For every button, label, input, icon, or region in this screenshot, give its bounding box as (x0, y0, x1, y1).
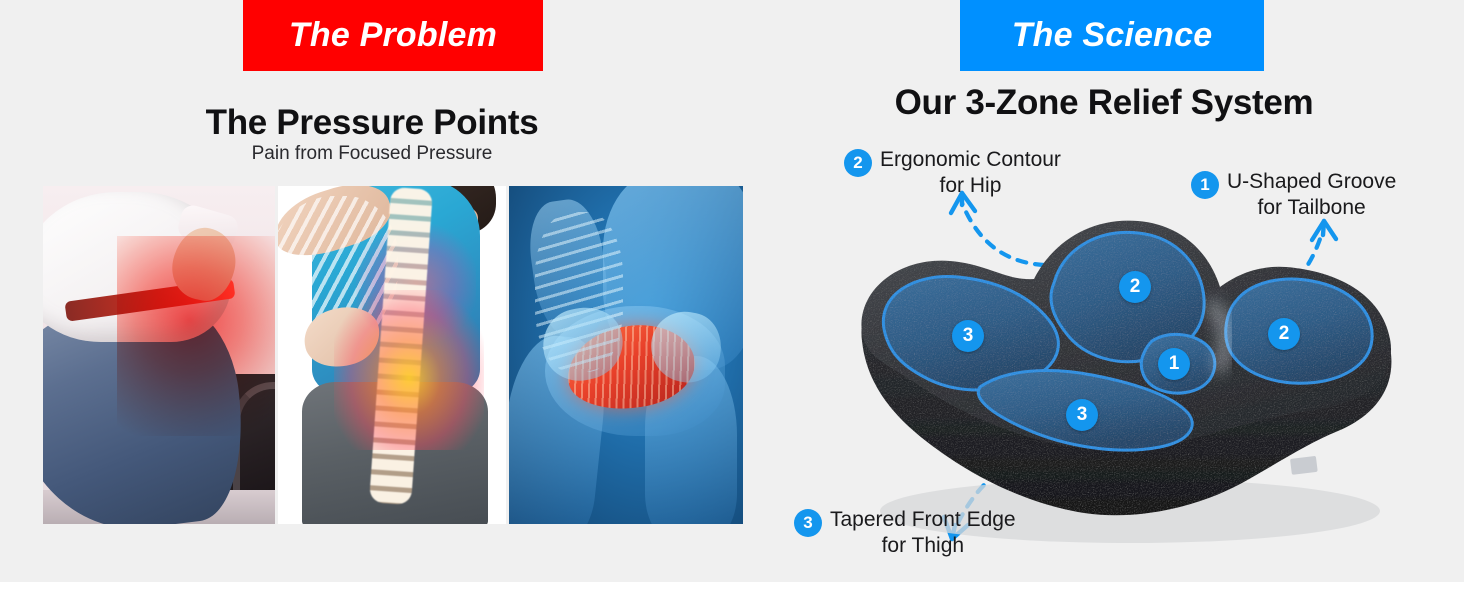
problem-subtitle: Pain from Focused Pressure (0, 143, 744, 165)
callout-u-shaped-groove: 1 U-Shaped Groove for Tailbone (1191, 169, 1396, 220)
bottom-white-strip (0, 582, 1464, 600)
pain-photo-gallery (43, 186, 743, 524)
callout-badge-3: 3 (794, 509, 822, 537)
science-section: Our 3-Zone Relief System (744, 71, 1464, 582)
zone-badge-rear-hip: 2 (1119, 271, 1151, 303)
callout-label-tailbone: U-Shaped Groove for Tailbone (1227, 169, 1396, 220)
problem-title: The Pressure Points (0, 103, 744, 143)
problem-banner-label: The Problem (289, 16, 497, 55)
callout-badge-1: 1 (1191, 171, 1219, 199)
problem-banner: The Problem (243, 0, 543, 71)
callout-badge-2: 2 (844, 149, 872, 177)
zone-badge-right-hip: 2 (1268, 318, 1300, 350)
seat-cushion-product: 2 3 1 2 3 (838, 191, 1408, 551)
science-banner-label: The Science (1012, 16, 1213, 55)
infographic-page: The Problem The Science The Pressure Poi… (0, 0, 1464, 600)
hip-pain-glow (117, 236, 275, 436)
thigh-pain-photo (509, 186, 743, 524)
zone-badge-tailbone: 1 (1158, 348, 1190, 380)
callout-tapered-front-edge: 3 Tapered Front Edge for Thigh (794, 507, 1016, 558)
zone-badge-front-thigh: 3 (1066, 399, 1098, 431)
callout-label-thigh: Tapered Front Edge for Thigh (830, 507, 1016, 558)
hip-pain-photo (43, 186, 275, 524)
cushion-illustration (838, 191, 1408, 551)
science-banner: The Science (960, 0, 1264, 71)
zone-badge-left-thigh: 3 (952, 320, 984, 352)
callout-ergonomic-contour: 2 Ergonomic Contour for Hip (844, 147, 1061, 198)
callout-label-hip: Ergonomic Contour for Hip (880, 147, 1061, 198)
science-title: Our 3-Zone Relief System (744, 83, 1464, 123)
lower-back-pain-glow (334, 290, 484, 450)
problem-section: The Pressure Points Pain from Focused Pr… (0, 71, 744, 582)
spine-pain-photo (278, 186, 506, 524)
